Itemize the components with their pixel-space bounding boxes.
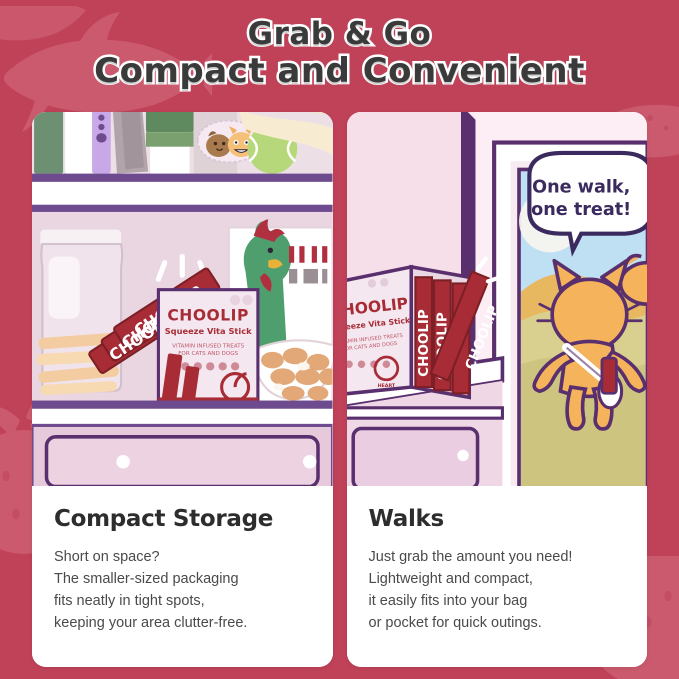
svg-text:CHOOLIP: CHOOLIP (415, 309, 431, 377)
header: Grab & Go Compact and Convenient (0, 0, 679, 108)
cards-row: CHOOLIP CHOOLIP CHOOLIP CHOOLIP Squeeze … (0, 112, 679, 667)
card-body-walks: Just grab the amount you need! Lightweig… (369, 546, 626, 634)
card-walks: One walk, one treat! (347, 112, 648, 667)
title-line-2: Compact and Convenient (94, 53, 585, 90)
svg-text:FOR CATS AND DOGS: FOR CATS AND DOGS (178, 351, 238, 357)
text-panel-walks: Walks Just grab the amount you need! Lig… (347, 486, 648, 667)
svg-text:one treat!: one treat! (531, 200, 631, 220)
card-title-walks: Walks (369, 506, 626, 532)
svg-text:HEART: HEART (377, 383, 395, 389)
card-body-compact-storage: Short on space? The smaller-sized packag… (54, 546, 311, 634)
card-compact-storage: CHOOLIP CHOOLIP CHOOLIP CHOOLIP Squeeze … (32, 112, 333, 667)
illustration-entryway: One walk, one treat! (347, 112, 648, 486)
svg-text:VITAMIN INFUSED TREATS: VITAMIN INFUSED TREATS (172, 344, 244, 350)
svg-text:CHOOLIP: CHOOLIP (167, 307, 249, 325)
card-title-compact-storage: Compact Storage (54, 506, 311, 532)
text-panel-compact-storage: Compact Storage Short on space? The smal… (32, 486, 333, 667)
svg-text:Squeeze Vita Stick: Squeeze Vita Stick (165, 326, 252, 336)
title-line-1: Grab & Go (248, 18, 432, 51)
illustration-pantry-shelf: CHOOLIP CHOOLIP CHOOLIP CHOOLIP Squeeze … (32, 112, 333, 486)
infographic-root: Grab & Go Compact and Convenient (0, 0, 679, 679)
svg-text:One walk,: One walk, (532, 177, 630, 197)
